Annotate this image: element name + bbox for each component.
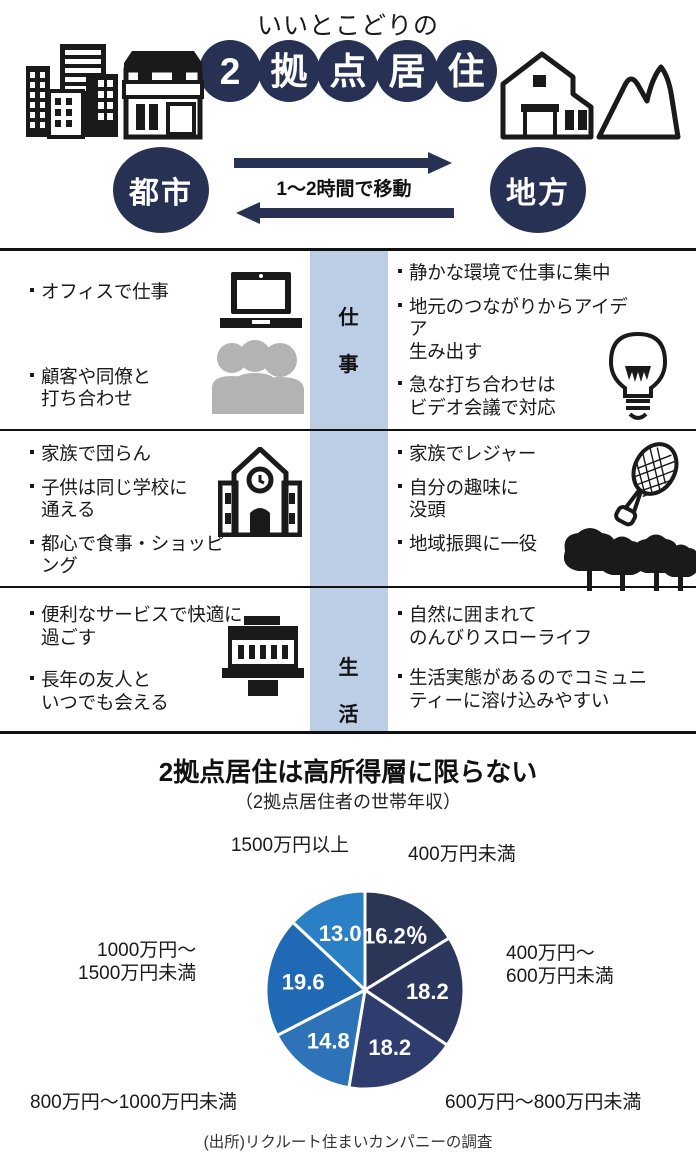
laptop-icon — [218, 270, 304, 332]
pie-slice-value: 18.2 — [368, 1035, 411, 1060]
pie-slice-value: 16.2％ — [363, 924, 428, 949]
house-mountain-icon — [495, 42, 685, 142]
school-icon — [218, 447, 302, 537]
pie-chart: 16.2％18.218.214.819.613.0 — [265, 890, 465, 1090]
pie-label-400-600: 400万円〜 600万円未満 — [506, 943, 614, 989]
chart-subtitle: （2拠点居住者の世帯年収） — [0, 788, 696, 814]
pie-slice-value: 14.8 — [307, 1028, 350, 1053]
comparison-table: オフィスで仕事 顧客や同僚と 打ち合わせ — [0, 248, 696, 734]
pie-label-1000-1500: 1000万円〜 1500万円未満 — [78, 940, 196, 986]
list-item: 家族で団らん — [30, 443, 240, 466]
list-item: 自然に囲まれて のんびりスローライフ — [398, 604, 690, 649]
list-item: 都心で食事・ショッピング — [30, 533, 240, 578]
row-2-city-cell: 家族で団らん 子供は同じ学校に 通える 都心で食事・ショッピング — [0, 429, 310, 586]
pie-slice-value: 19.6 — [282, 969, 325, 994]
row-3-city-cell: 便利なサービスで快適に 過ごす 長年の友人と いつでも会える — [0, 586, 310, 731]
list-item: 長年の友人と いつでも会える — [30, 669, 245, 714]
row-1-city-cell: オフィスで仕事 顧客や同僚と 打ち合わせ — [0, 248, 310, 429]
pie-label-1500-plus: 1500万円以上 — [200, 835, 380, 858]
list-item: 便利なサービスで快適に 過ごす — [30, 604, 245, 649]
list-item: 生活実態があるのでコミュニ ティーに溶け込みやすい — [398, 667, 690, 712]
pie-slice-value: 13.0 — [319, 921, 362, 946]
pie-label-under-400: 400万円未満 — [408, 844, 516, 867]
title-char-2: 点 — [317, 40, 379, 102]
building-facility-icon — [218, 614, 308, 698]
list-item: 地元のつながりからアイデア 生み出す — [398, 296, 638, 364]
city-label-circle: 都市 — [113, 147, 209, 233]
title-char-1: 拠 — [258, 40, 320, 102]
table-row: 便利なサービスで快適に 過ごす 長年の友人と いつでも会える — [0, 586, 696, 731]
source-note: (出所)リクルート住まいカンパニーの調査 — [0, 1130, 696, 1152]
pie-label-600-800: 600万円〜800万円未満 — [445, 1092, 641, 1115]
category-char: 事 — [339, 348, 360, 377]
list-item: 急な打ち合わせは ビデオ会議で対応 — [398, 374, 638, 419]
people-group-icon — [208, 336, 306, 416]
list-item: 静かな環境で仕事に集中 — [398, 262, 638, 285]
title-char-0: 2 — [199, 40, 261, 102]
lightbulb-icon — [603, 330, 673, 422]
row-2-rural-cell: 家族でレジャー 自分の趣味に 没頭 地域振興に一役 — [388, 429, 696, 586]
tennis-racket-icon — [603, 437, 683, 529]
row-1-rural-cell: 静かな環境で仕事に集中 地元のつながりからアイデア 生み出す 急な打ち合わせは … — [388, 248, 696, 429]
title-char-4: 住 — [435, 40, 497, 102]
city-buildings-icon — [16, 36, 206, 141]
title-char-3: 居 — [376, 40, 438, 102]
table-row: オフィスで仕事 顧客や同僚と 打ち合わせ — [0, 248, 696, 429]
list-item: 子供は同じ学校に 通える — [30, 477, 240, 522]
row-3-rural-cell: 自然に囲まれて のんびりスローライフ 生活実態があるのでコミュニ ティーに溶け込… — [388, 586, 696, 731]
trees-icon — [560, 523, 696, 591]
page-title: 2拠点居住は高所得層に限らない — [0, 752, 696, 789]
list-item: 自分の趣味に 没頭 — [398, 477, 598, 522]
list-item: 顧客や同僚と 打ち合わせ — [30, 366, 210, 411]
list-item: オフィスで仕事 — [30, 281, 210, 304]
pie-chart-section: 2拠点居住は高所得層に限らない （2拠点居住者の世帯年収） 16.2％18.21… — [0, 740, 696, 1174]
table-row: 家族で団らん 子供は同じ学校に 通える 都心で食事・ショッピング — [0, 429, 696, 586]
row-1-category-label: 仕 事 — [310, 248, 388, 429]
travel-time-label: 1〜2時間で移動 — [232, 174, 456, 201]
pie-label-800-1000: 800万円〜1000万円未満 — [30, 1092, 237, 1115]
rural-label-circle: 地方 — [490, 147, 586, 233]
category-char: 仕 — [339, 301, 360, 330]
header-section: いいとこどりの 2 拠 点 居 住 — [0, 0, 696, 248]
pie-slice-value: 18.2 — [406, 979, 449, 1004]
list-item: 家族でレジャー — [398, 443, 598, 466]
